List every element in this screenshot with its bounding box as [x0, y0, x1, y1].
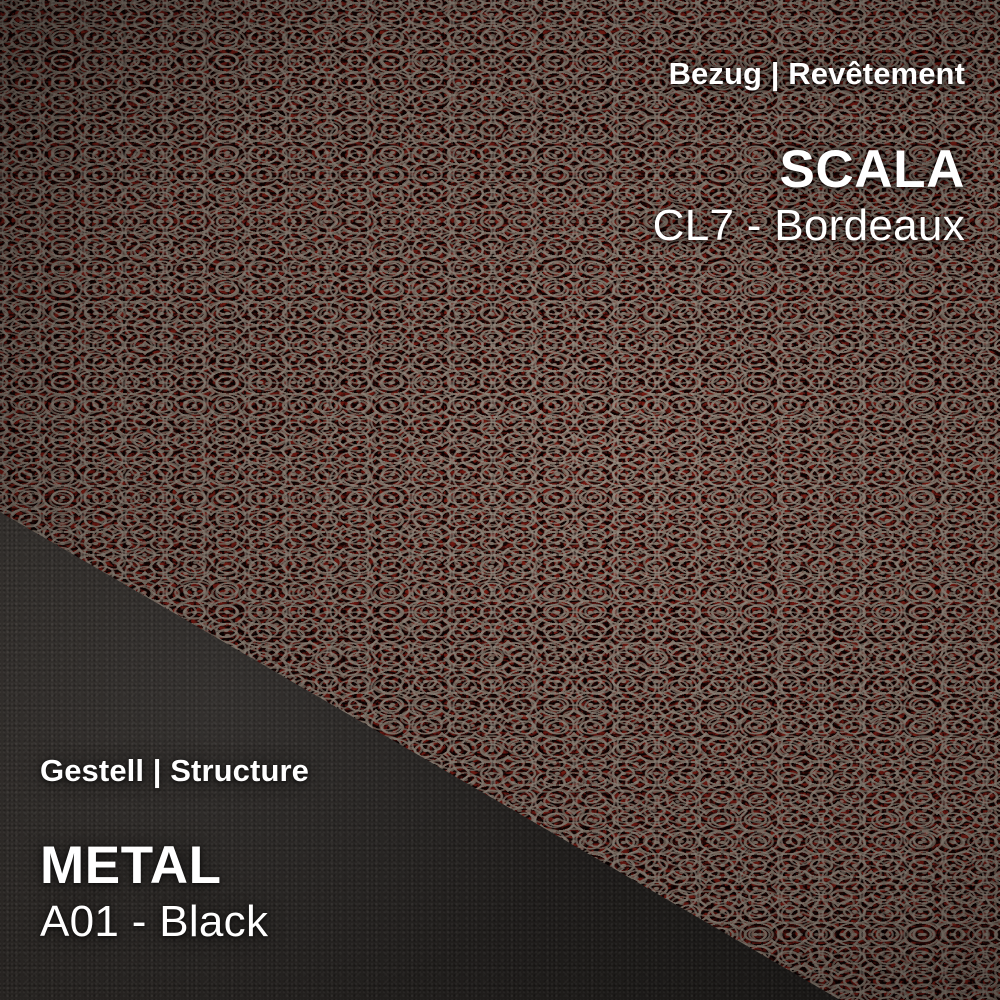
fabric-category-label: Bezug | Revêtement	[653, 56, 965, 93]
fabric-label-group: Bezug | Revêtement SCALA CL7 - Bordeaux	[653, 56, 965, 252]
metal-label-group: Gestell | Structure METAL A01 - Black	[40, 753, 309, 948]
fabric-material-name: SCALA	[653, 142, 965, 198]
metal-material-code: A01 - Black	[40, 896, 309, 948]
fabric-material-code: CL7 - Bordeaux	[653, 200, 965, 252]
metal-material-name: METAL	[40, 838, 309, 894]
material-swatch-card: Bezug | Revêtement SCALA CL7 - Bordeaux …	[0, 0, 1000, 1000]
metal-category-label: Gestell | Structure	[40, 753, 309, 790]
